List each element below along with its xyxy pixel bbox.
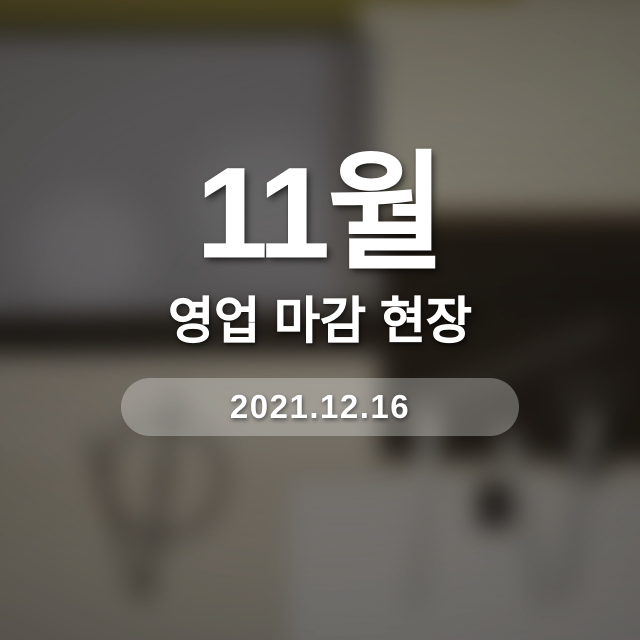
date-pill: 2021.12.16	[121, 378, 519, 436]
banner-subtitle: 영업 마감 현장	[168, 296, 472, 346]
date-label: 2021.12.16	[230, 388, 410, 426]
promo-banner: 11월 영업 마감 현장 2021.12.16	[0, 0, 640, 640]
banner-title: 11월	[196, 150, 443, 278]
banner-content: 11월 영업 마감 현장 2021.12.16	[0, 0, 640, 640]
